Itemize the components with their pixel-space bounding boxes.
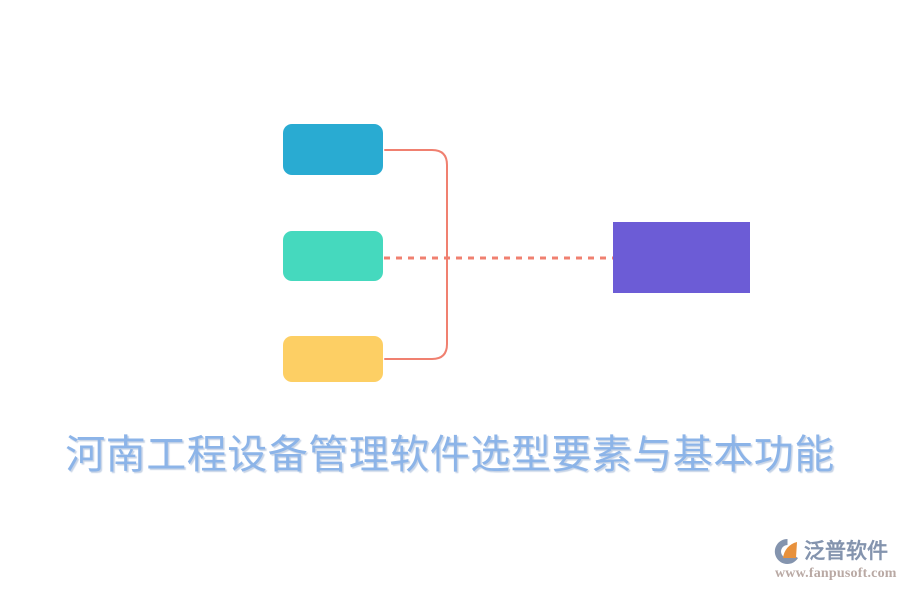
slide-canvas: 河南工程设备管理软件选型要素与基本功能 泛普软件 www.fanpusoft.c…	[0, 0, 900, 600]
node-blue-label	[283, 124, 383, 175]
page-title: 河南工程设备管理软件选型要素与基本功能	[0, 426, 900, 484]
brand-url: www.fanpusoft.com	[775, 565, 897, 583]
brand-watermark: 泛普软件 www.fanpusoft.com	[774, 536, 892, 586]
bracket-bottom-connector	[385, 258, 447, 359]
fanpu-logo-icon	[774, 538, 801, 565]
bracket-top-connector	[385, 150, 447, 258]
node-green-label	[283, 231, 383, 281]
brand-row: 泛普软件	[774, 536, 888, 566]
node-blue[interactable]	[283, 124, 383, 175]
brand-name: 泛普软件	[804, 538, 888, 565]
diagram	[0, 0, 900, 410]
node-purple-label	[613, 222, 750, 293]
node-purple[interactable]	[613, 222, 750, 293]
connector-layer	[0, 0, 900, 410]
node-yellow-label	[283, 336, 383, 382]
node-yellow[interactable]	[283, 336, 383, 382]
node-green[interactable]	[283, 231, 383, 281]
